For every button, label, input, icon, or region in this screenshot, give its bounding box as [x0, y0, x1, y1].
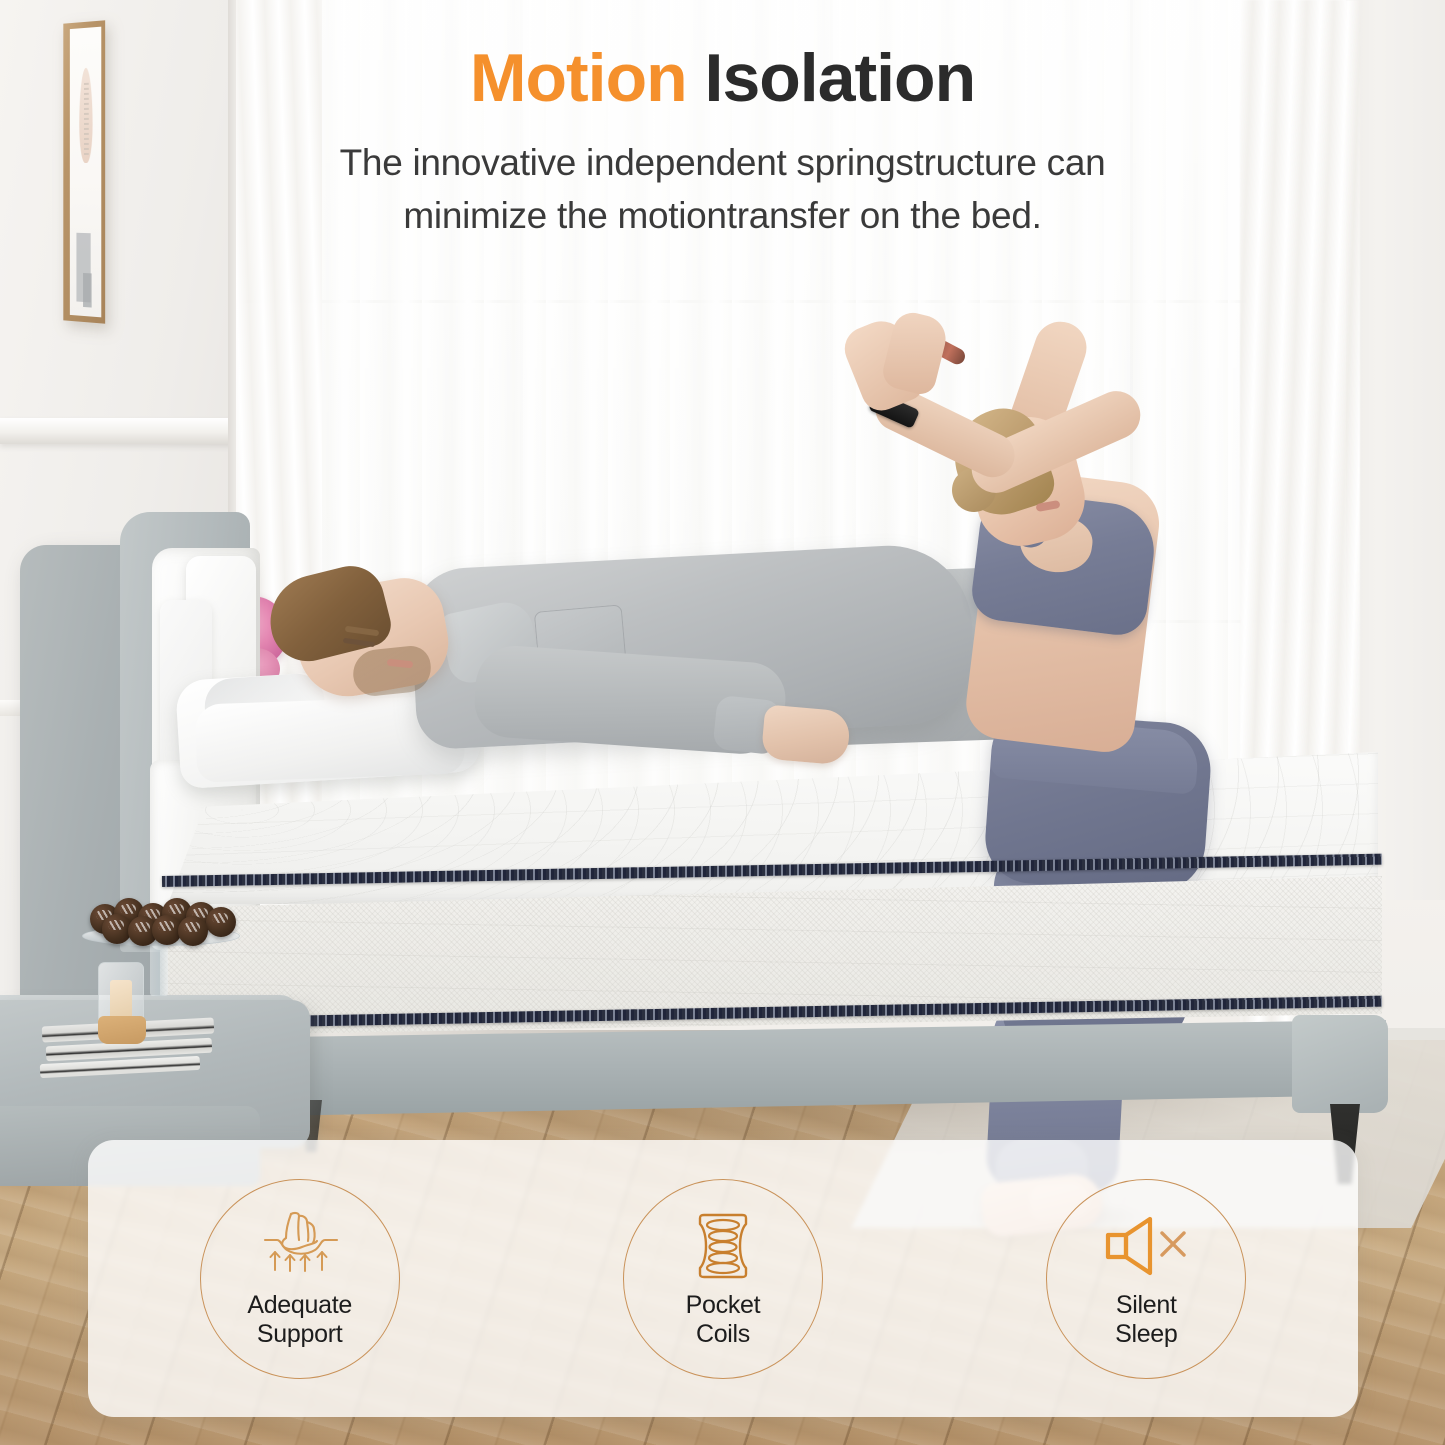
feature-badge-adequate-support[interactable]: Adequate Support: [200, 1179, 400, 1379]
wall-molding: [0, 418, 232, 444]
bed-frame-corner: [1292, 1015, 1388, 1113]
feature-badges: Adequate Support: [88, 1140, 1358, 1417]
hand-pressing-support-icon: [255, 1209, 345, 1283]
product-marketing-image: Motion Isolation The innovative independ…: [0, 0, 1445, 1445]
feature-label-line-1: Adequate: [247, 1291, 352, 1320]
feature-label-pocket-coils: Pocket Coils: [686, 1291, 761, 1349]
title-accent-word: Motion: [470, 40, 687, 116]
truffle: [206, 907, 236, 937]
man-hand: [761, 704, 851, 765]
subtitle-line-2: minimize the motiontransfer on the bed.: [0, 190, 1445, 243]
candle-holder-base: [98, 1016, 146, 1044]
feature-label-line-2: Support: [247, 1320, 352, 1349]
feature-label-silent-sleep: Silent Sleep: [1115, 1291, 1177, 1349]
feature-label-line-2: Sleep: [1115, 1320, 1177, 1349]
feature-label-adequate-support: Adequate Support: [247, 1291, 352, 1349]
feature-label-line-2: Coils: [686, 1320, 761, 1349]
page-title: Motion Isolation: [0, 42, 1445, 114]
pocket-coil-spring-icon: [692, 1209, 754, 1283]
page-subtitle: The innovative independent springstructu…: [0, 137, 1445, 242]
title-rest: Isolation: [687, 40, 975, 116]
chocolate-truffles: [88, 898, 234, 936]
subtitle-line-1: The innovative independent springstructu…: [0, 137, 1445, 190]
cake-stand-stem: [150, 940, 168, 996]
muted-speaker-icon: [1100, 1209, 1192, 1283]
feature-label-line-1: Pocket: [686, 1291, 761, 1320]
art-shape-square: [83, 273, 92, 308]
truffle: [178, 916, 208, 946]
feature-label-line-1: Silent: [1115, 1291, 1177, 1320]
feature-badge-silent-sleep[interactable]: Silent Sleep: [1046, 1179, 1246, 1379]
feature-badge-pocket-coils[interactable]: Pocket Coils: [623, 1179, 823, 1379]
